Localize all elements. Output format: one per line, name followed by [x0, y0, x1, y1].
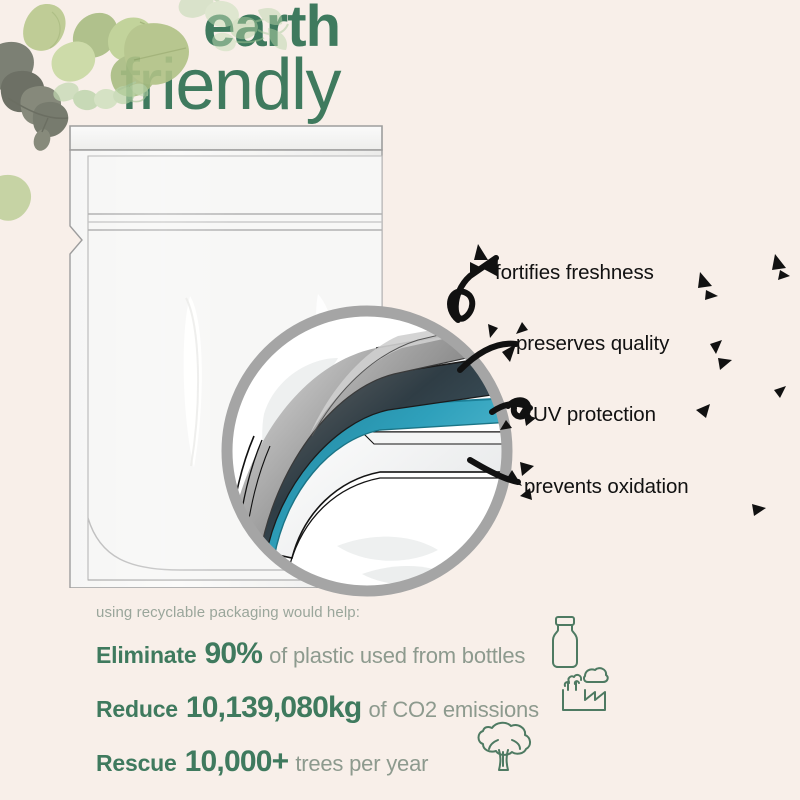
tick-mark-fortifies — [660, 250, 800, 310]
stat-verb: Rescue — [96, 750, 177, 777]
tick-mark-oxidation-right — [742, 494, 792, 534]
tick-mark-uv — [690, 392, 800, 442]
stat-verb: Eliminate — [96, 642, 196, 669]
stat-value: 10,000+ — [185, 745, 289, 779]
tree-icon — [468, 718, 538, 776]
bottle-icon — [545, 614, 585, 670]
stat-value: 10,139,080kg — [186, 691, 362, 725]
feature-label-preserves-quality: preserves quality — [516, 332, 669, 356]
stat-row-rescue: Rescue 10,000+ trees per year — [96, 745, 756, 779]
stat-verb: Reduce — [96, 696, 178, 723]
stats-block: using recyclable packaging would help: E… — [96, 604, 756, 799]
tick-mark-preserves-left — [474, 318, 514, 354]
feature-label-fortifies-freshness: fortifies freshness — [495, 261, 654, 285]
stat-tail: trees per year — [295, 751, 428, 777]
stat-row-eliminate: Eliminate 90% of plastic used from bottl… — [96, 637, 756, 671]
factory-icon — [557, 666, 611, 714]
stat-value: 90% — [204, 637, 262, 671]
stat-row-reduce: Reduce 10,139,080kg of CO2 emissions — [96, 691, 756, 725]
feature-label-prevents-oxidation: prevents oxidation — [524, 475, 689, 499]
poster-canvas: earth friendly recyclable packaging fort… — [0, 0, 800, 800]
feature-label-uv-protection: UV protection — [533, 403, 656, 427]
stats-intro: using recyclable packaging would help: — [96, 604, 756, 621]
stat-tail: of plastic used from bottles — [269, 643, 525, 669]
tick-mark-preserves — [694, 330, 800, 390]
